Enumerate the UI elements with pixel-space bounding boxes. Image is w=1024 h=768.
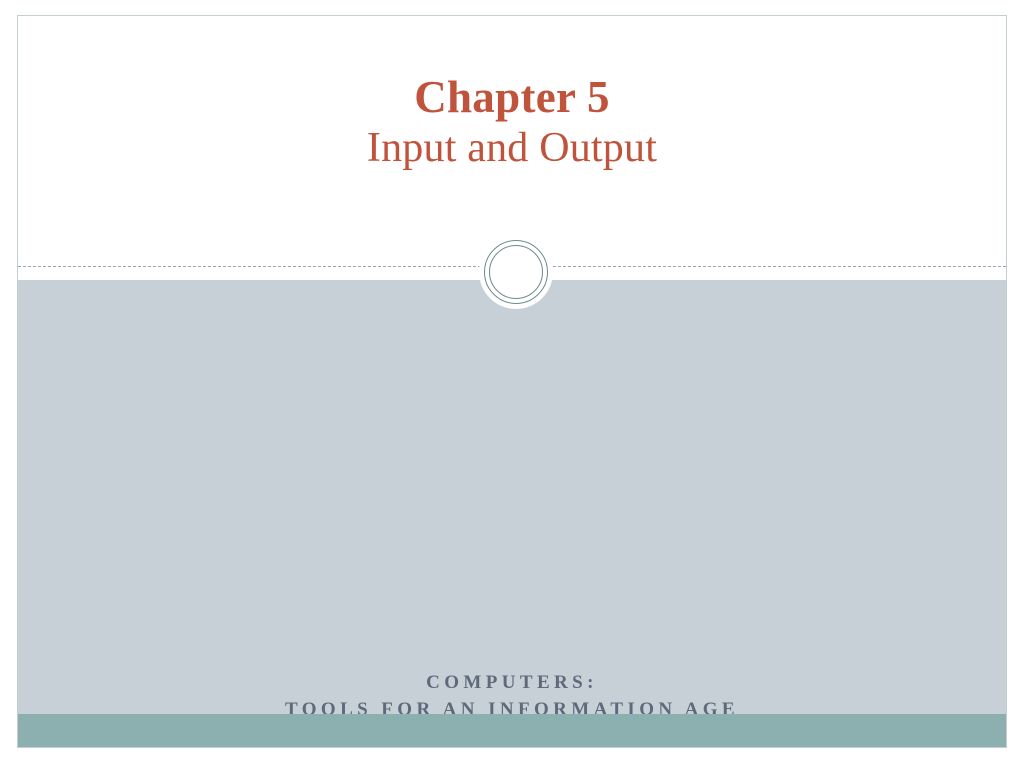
slide-title-region: Chapter 5 Input and Output bbox=[18, 16, 1006, 267]
page-title: Chapter 5 bbox=[18, 74, 1006, 121]
slide-canvas: Chapter 5 Input and Output Computers: To… bbox=[0, 0, 1024, 768]
double-circle-ornament-icon bbox=[479, 235, 553, 309]
slide-footer-band bbox=[18, 714, 1006, 747]
presentation-slide: Chapter 5 Input and Output Computers: To… bbox=[17, 15, 1007, 748]
ornament-ring-inner bbox=[489, 245, 543, 299]
subtitle-line-1: Computers: bbox=[18, 670, 1006, 697]
slide-title-block: Chapter 5 Input and Output bbox=[18, 74, 1006, 170]
page-subtitle: Input and Output bbox=[18, 127, 1006, 171]
slide-content-panel: Computers: Tools for an Information Age bbox=[18, 280, 1006, 714]
